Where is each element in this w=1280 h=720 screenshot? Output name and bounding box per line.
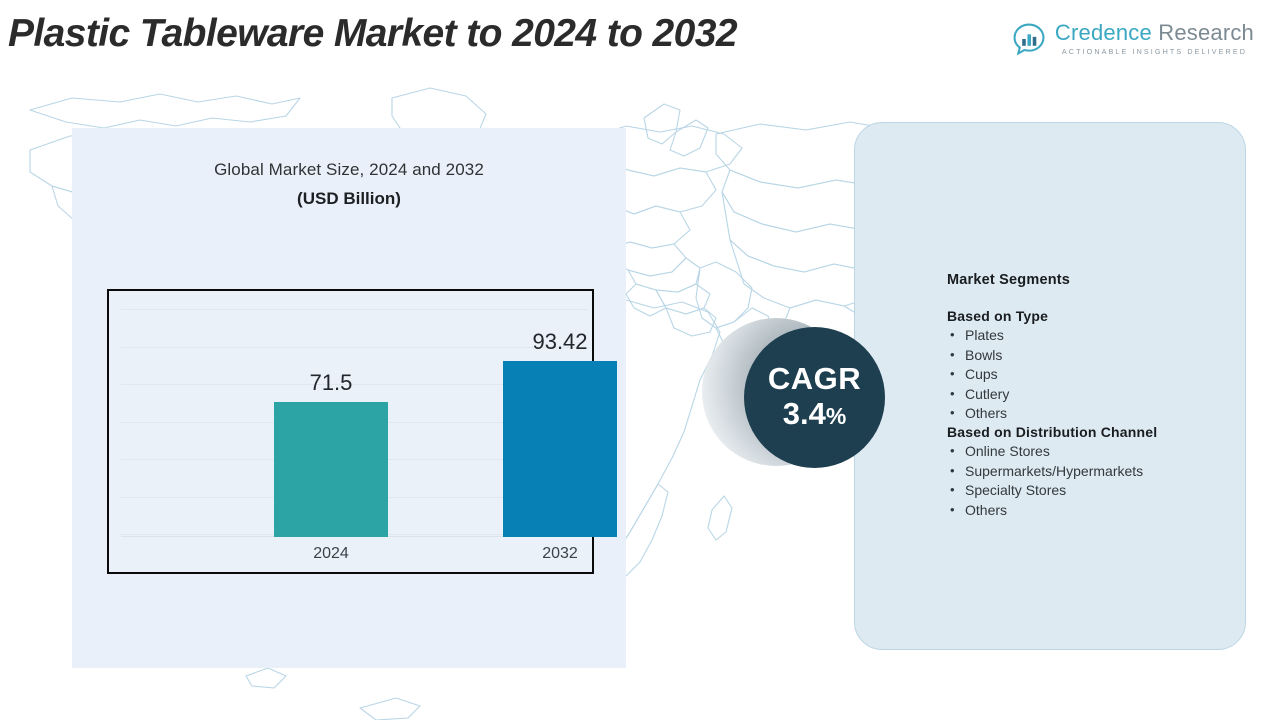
page-title: Plastic Tableware Market to 2024 to 2032 [8, 12, 737, 56]
segment-item: Cups [947, 365, 1247, 385]
segment-item: Specialty Stores [947, 481, 1247, 501]
bar-value-2032: 93.42 [532, 329, 587, 355]
segment-group-title: Based on Type [947, 308, 1247, 324]
market-segments-block: Market Segments Based on TypePlatesBowls… [947, 272, 1247, 520]
cagr-unit: % [826, 403, 846, 429]
segment-item: Others [947, 501, 1247, 521]
bar-2024: 71.52024 [274, 402, 388, 537]
speech-bubble-bar-chart-icon [1012, 22, 1046, 56]
cagr-number: 3.4 [783, 396, 826, 431]
chart-plot-area: 71.5202493.422032 [109, 291, 592, 572]
logo-company-name: Credence Research [1055, 22, 1254, 44]
bar-2032: 93.422032 [503, 361, 617, 537]
segment-item: Bowls [947, 346, 1247, 366]
segment-item: Online Stores [947, 442, 1247, 462]
bar-category-2032: 2032 [542, 545, 578, 563]
cagr-label: CAGR [768, 363, 861, 396]
segment-groups: Based on TypePlatesBowlsCupsCutleryOther… [947, 308, 1247, 520]
segment-list: PlatesBowlsCupsCutleryOthers [947, 326, 1247, 424]
bar-chart: 71.5202493.422032 [107, 289, 594, 574]
cagr-circle: CAGR 3.4% [744, 327, 885, 468]
cagr-badge: CAGR 3.4% [700, 310, 900, 490]
segment-item: Cutlery [947, 385, 1247, 405]
brand-logo: Credence Research Actionable Insights De… [1012, 22, 1254, 56]
segment-group-title: Based on Distribution Channel [947, 424, 1247, 440]
bar-category-2024: 2024 [313, 545, 349, 563]
segment-list: Online StoresSupermarkets/HypermarketsSp… [947, 442, 1247, 520]
infographic-page: Plastic Tableware Market to 2024 to 2032… [0, 0, 1280, 720]
logo-tagline: Actionable Insights Delivered [1055, 48, 1254, 55]
logo-name-part2: Research [1158, 20, 1254, 45]
segment-item: Plates [947, 326, 1247, 346]
bar-value-2024: 71.5 [310, 370, 353, 396]
logo-text-block: Credence Research Actionable Insights De… [1055, 22, 1254, 55]
segment-item: Supermarkets/Hypermarkets [947, 462, 1247, 482]
segment-item: Others [947, 404, 1247, 424]
segments-title: Market Segments [947, 272, 1247, 288]
cagr-value: 3.4% [783, 396, 847, 432]
logo-name-part1: Credence [1055, 20, 1152, 45]
